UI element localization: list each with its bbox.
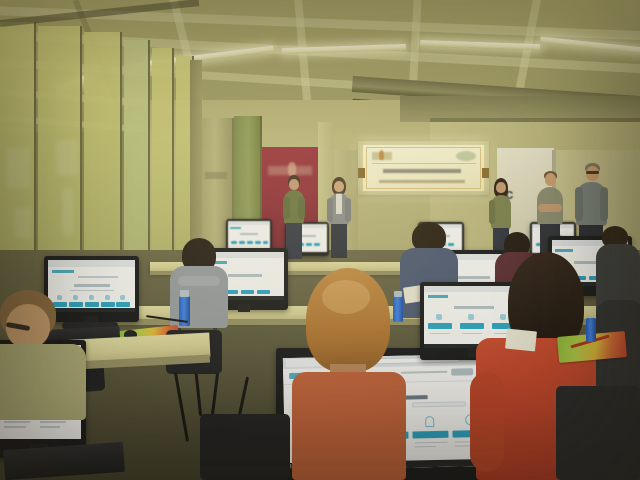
attendee-mid-left [168, 238, 228, 328]
page-card-button[interactable] [257, 290, 270, 294]
page-card-button[interactable] [101, 302, 115, 307]
bell-icon [425, 416, 434, 427]
legs [331, 224, 347, 258]
card-4[interactable] [412, 415, 449, 458]
attendee-front-center-blonde [298, 268, 400, 480]
attendee-front-left [0, 290, 94, 420]
slide-emblem-icon [379, 150, 384, 160]
arm [600, 187, 608, 221]
arm [345, 198, 351, 222]
monitor-screen [228, 221, 270, 251]
arm [575, 187, 583, 221]
arm [298, 197, 305, 219]
glass-reflection [62, 188, 74, 236]
page-card-button[interactable] [428, 323, 452, 329]
chair-back [556, 386, 640, 480]
bottle-cap [180, 290, 189, 297]
slide-logo-right-icon [456, 151, 476, 161]
head [334, 181, 344, 192]
ceiling-light-strip [420, 40, 540, 50]
wall-trim [430, 118, 640, 122]
legs [286, 223, 302, 259]
torso [0, 344, 86, 420]
screen-bracket [482, 168, 489, 178]
card-4-button[interactable] [412, 431, 448, 439]
door-sign [205, 172, 227, 179]
arm [283, 197, 290, 219]
header-partner-logo-icon [451, 368, 473, 375]
screen-bracket [358, 168, 365, 178]
search-input[interactable] [412, 401, 466, 407]
slide-divider [372, 163, 476, 164]
training-room-photo: ic [0, 0, 640, 480]
slide-subtitle-text [379, 180, 465, 183]
arm-crossed [538, 204, 562, 212]
red-panel-emblem [288, 162, 296, 176]
glasses-icon [586, 171, 599, 174]
glass-reflection [14, 208, 32, 238]
arm [470, 372, 504, 472]
chair-back [200, 414, 290, 480]
head [545, 173, 556, 186]
page-card-button[interactable] [241, 290, 254, 294]
glass-reflection [56, 140, 78, 176]
head [496, 182, 506, 193]
printed-handout [505, 328, 537, 351]
arm [489, 200, 495, 224]
shirt [336, 194, 342, 214]
water-bottle [586, 318, 596, 342]
head [289, 179, 299, 190]
presenter-grey-blazer [326, 177, 352, 259]
arm [327, 198, 333, 222]
page-card-button[interactable] [460, 323, 484, 329]
torso [292, 372, 406, 480]
page-card-button[interactable] [116, 302, 130, 307]
shoulder-highlight [178, 276, 220, 286]
glass-mullion [0, 0, 199, 27]
hair-highlight [322, 280, 370, 314]
slide-title-text [383, 169, 461, 173]
glass-reflection [6, 148, 30, 188]
